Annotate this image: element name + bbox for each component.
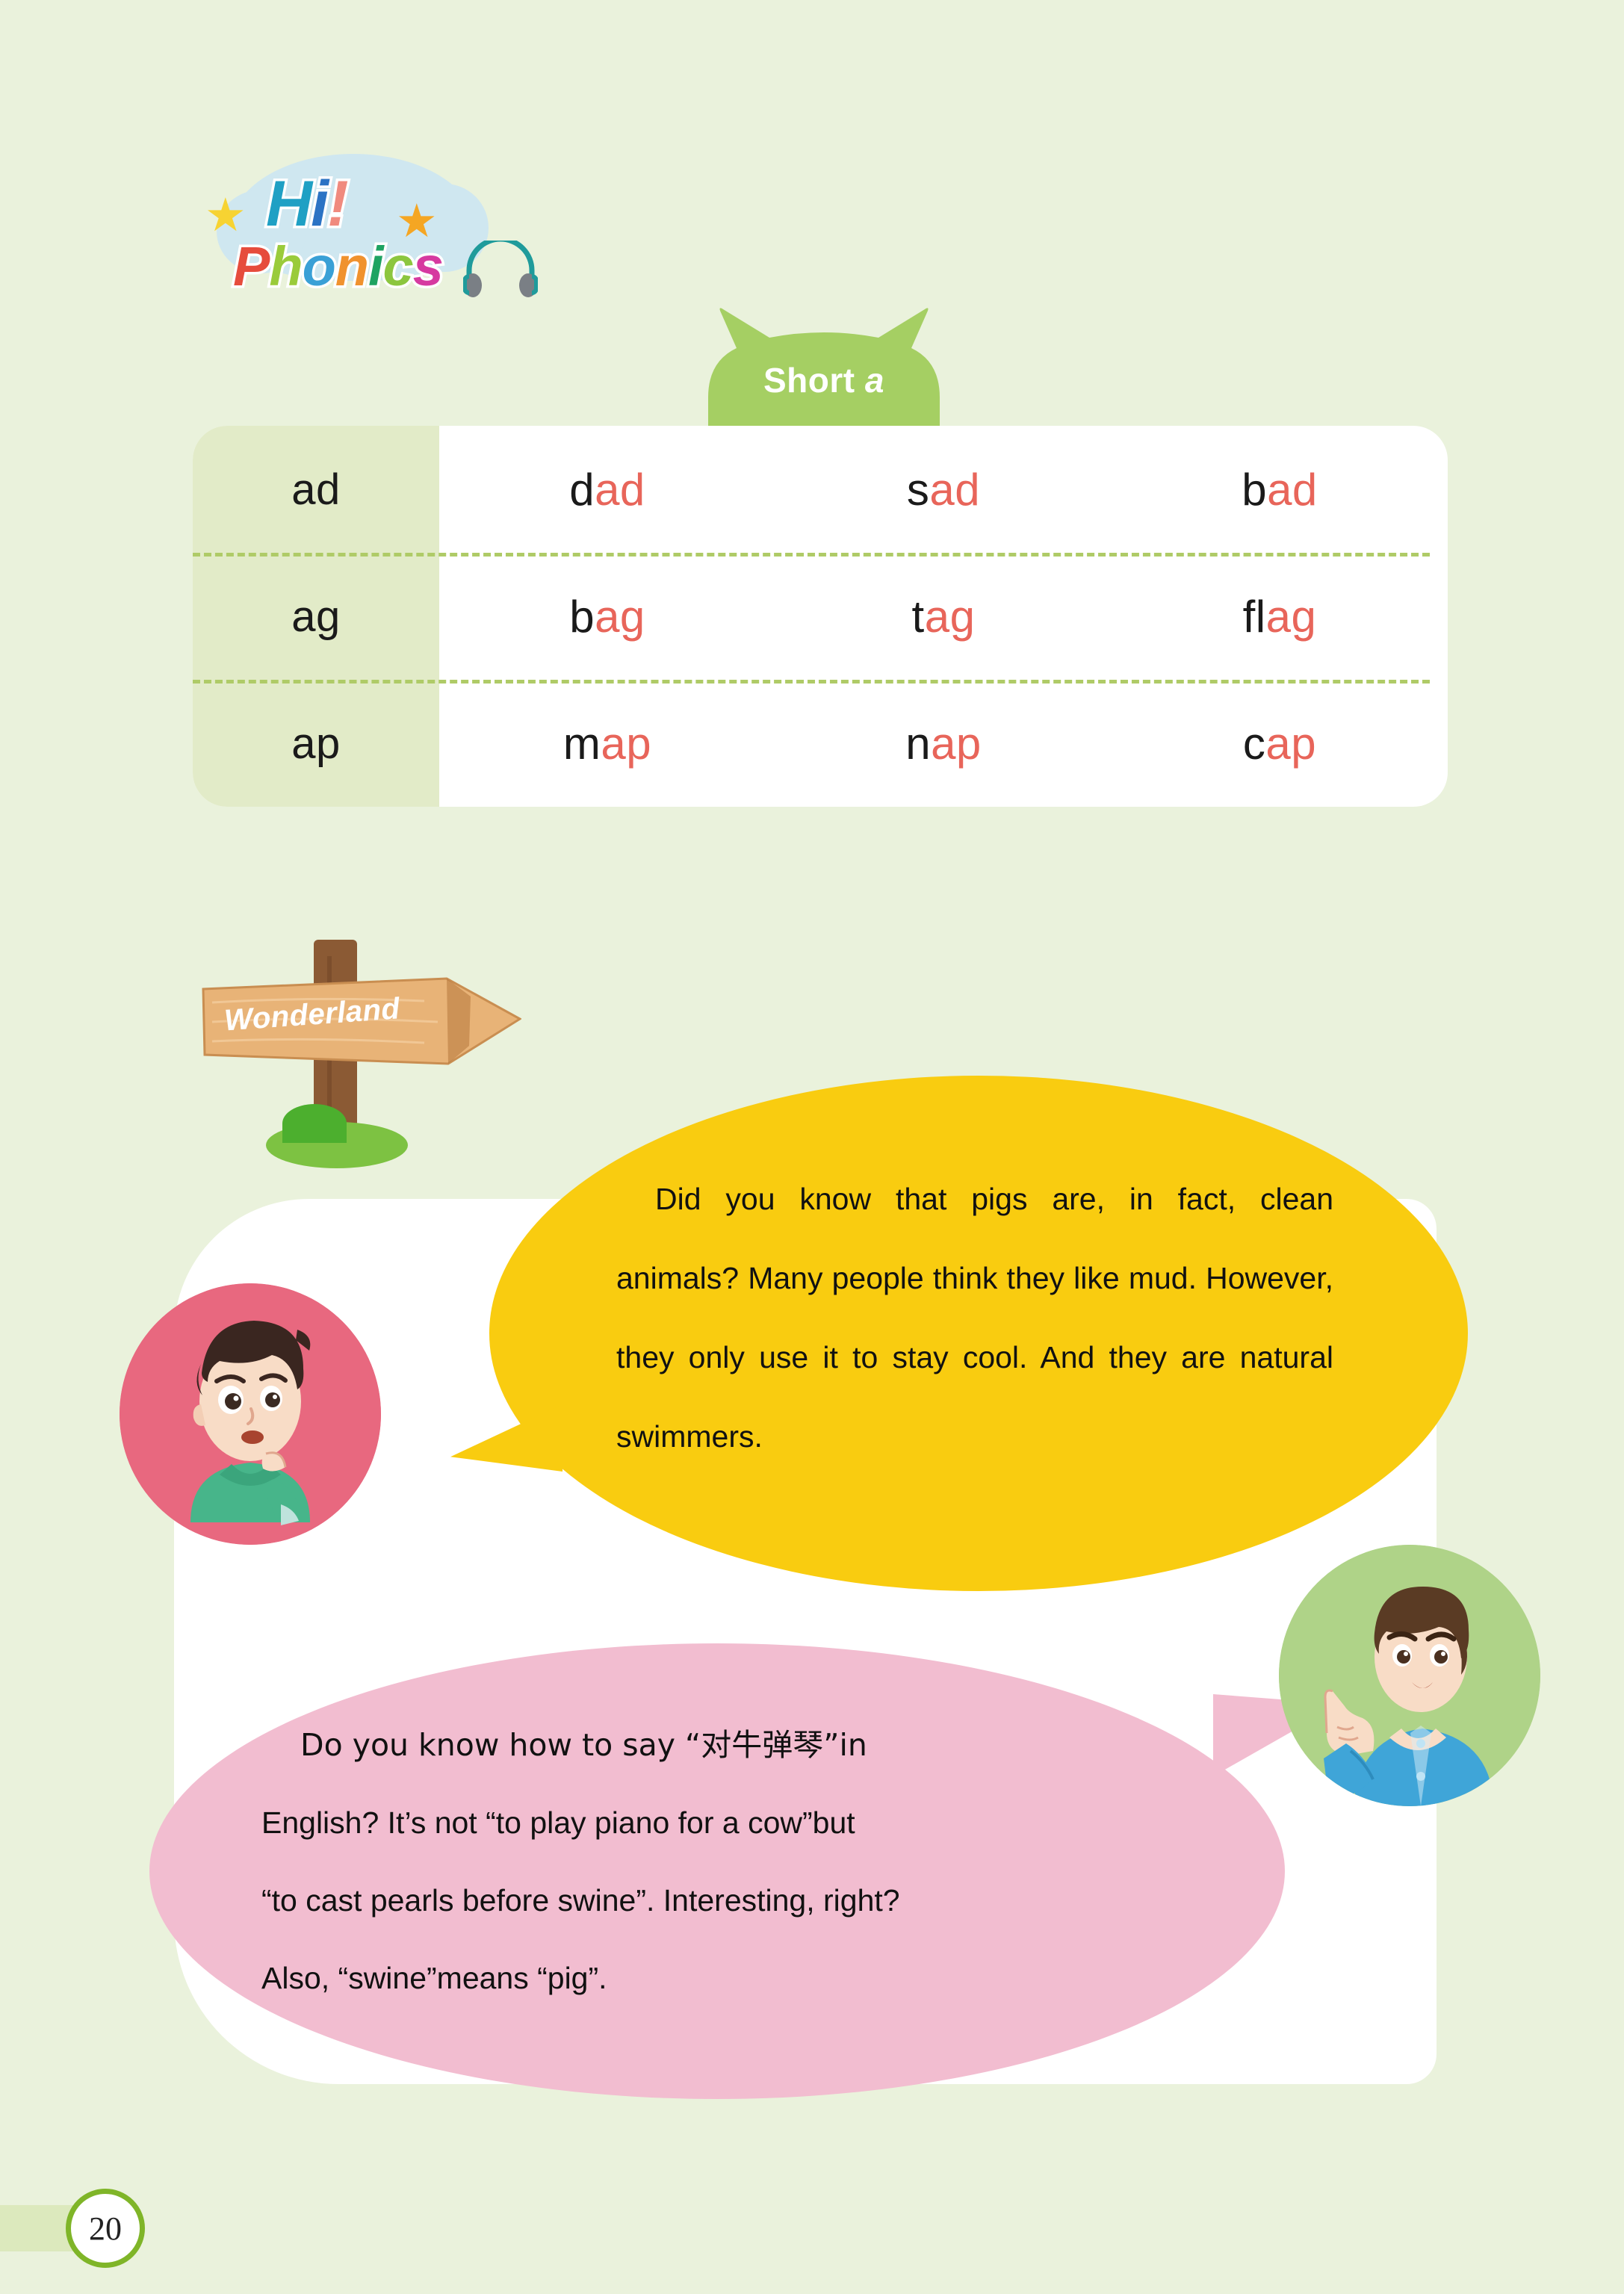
- logo-letter: i: [311, 167, 327, 241]
- logo-letter: o: [303, 235, 335, 298]
- word-rime: ag: [595, 592, 645, 642]
- tab-label-prefix: Short: [763, 361, 865, 400]
- word-family-table: ad dad sad bad ag bag tag flag ap map na…: [193, 426, 1448, 807]
- rime-cell: ag: [193, 592, 439, 642]
- hi-phonics-logo: ★ ★ Hi! Phonics: [200, 146, 551, 307]
- word-cell[interactable]: dad: [439, 464, 775, 515]
- page-number: 20: [89, 2210, 122, 2248]
- logo-letter: h: [269, 235, 302, 298]
- word-rime: ad: [929, 465, 980, 515]
- boy-illustration-icon: [120, 1283, 381, 1545]
- teacher-illustration-icon: [1279, 1545, 1540, 1806]
- pointing-teacher-avatar: [1279, 1545, 1540, 1806]
- tab-label: Short a: [678, 360, 970, 400]
- word-onset: b: [1242, 465, 1267, 515]
- word-rime: ag: [925, 592, 976, 642]
- word-cell[interactable]: nap: [775, 718, 1112, 769]
- word-onset: n: [905, 719, 931, 769]
- rime-cell: ad: [193, 465, 439, 515]
- word-rime: ap: [1265, 719, 1316, 769]
- pink-text-line: Also, “swine”means “pig”.: [261, 1939, 1240, 2017]
- word-rime: ag: [1266, 592, 1317, 642]
- word-onset: c: [1243, 719, 1266, 769]
- logo-letter: !: [327, 167, 347, 241]
- table-row[interactable]: ag bag tag flag: [193, 553, 1448, 680]
- table-row[interactable]: ap map nap cap: [193, 680, 1448, 807]
- logo-line-phonics: Phonics: [233, 235, 443, 298]
- pink-text-line: Do you know how to say “对牛弹琴”in: [261, 1706, 1240, 1784]
- word-onset: d: [569, 465, 595, 515]
- headphones-icon: [463, 241, 538, 299]
- pink-text-line: English? It’s not “to play piano for a c…: [261, 1784, 1240, 1861]
- word-rime: ad: [595, 465, 645, 515]
- speech-bubble-yellow-text: Did you know that pigs are, in fact, cle…: [616, 1159, 1333, 1476]
- logo-line-hi: Hi!: [266, 167, 347, 241]
- word-cell[interactable]: bad: [1112, 464, 1448, 515]
- speech-bubble-yellow: Did you know that pigs are, in fact, cle…: [489, 1076, 1468, 1591]
- logo-letter: c: [383, 235, 413, 298]
- logo-letter: s: [413, 235, 443, 298]
- word-onset: fl: [1243, 592, 1266, 642]
- word-rime: ad: [1267, 465, 1318, 515]
- word-cell[interactable]: map: [439, 718, 775, 769]
- word-onset: t: [912, 592, 925, 642]
- thinking-boy-avatar: [120, 1283, 381, 1545]
- logo-letter: H: [266, 167, 311, 241]
- rime-cell: ap: [193, 719, 439, 769]
- word-onset: b: [569, 592, 595, 642]
- grass-tuft-icon: [282, 1104, 347, 1143]
- word-rime: ap: [931, 719, 982, 769]
- logo-letter: n: [335, 235, 368, 298]
- word-rime: ap: [601, 719, 651, 769]
- logo-letter: P: [233, 235, 269, 298]
- tab-label-vowel: a: [865, 361, 884, 400]
- page-number-badge: 20: [66, 2189, 145, 2268]
- speech-bubble-pink-text: Do you know how to say “对牛弹琴”in English?…: [261, 1706, 1240, 2017]
- word-cell[interactable]: bag: [439, 591, 775, 642]
- word-onset: s: [907, 465, 930, 515]
- word-cell[interactable]: flag: [1112, 591, 1448, 642]
- wonderland-signpost[interactable]: Wonderland: [194, 926, 583, 1180]
- word-cell[interactable]: sad: [775, 464, 1112, 515]
- star-icon: ★: [205, 193, 247, 239]
- word-cell[interactable]: tag: [775, 591, 1112, 642]
- speech-bubble-pink: Do you know how to say “对牛弹琴”in English?…: [149, 1643, 1285, 2099]
- pink-text-line: “to cast pearls before swine”. Interesti…: [261, 1861, 1240, 1939]
- word-cell[interactable]: cap: [1112, 718, 1448, 769]
- table-row[interactable]: ad dad sad bad: [193, 426, 1448, 553]
- word-onset: m: [563, 719, 601, 769]
- pink-line-1: Do you know how to say “对牛弹琴”in: [300, 1727, 867, 1763]
- logo-letter: i: [368, 235, 383, 298]
